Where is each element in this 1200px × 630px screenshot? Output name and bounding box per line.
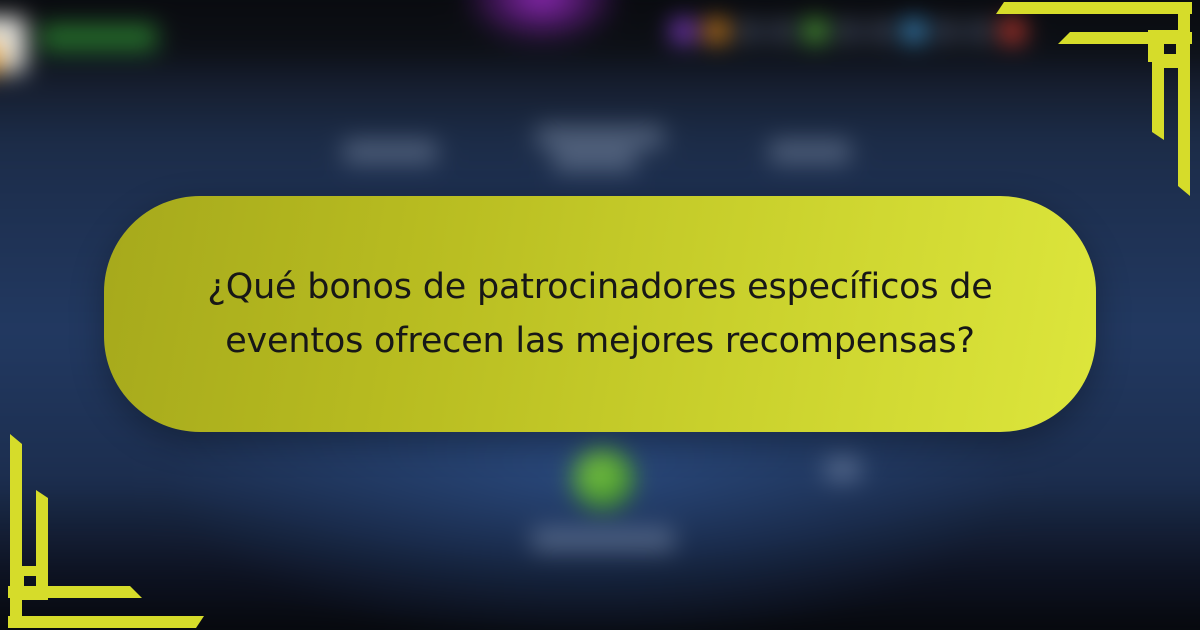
icon-grey-6 bbox=[968, 19, 991, 42]
background-badge-right bbox=[825, 456, 861, 481]
background-label-right bbox=[770, 140, 851, 163]
toolbar-panel bbox=[0, 17, 25, 72]
question-card: ¿Qué bonos de patrocinadores específicos… bbox=[104, 196, 1096, 432]
icon-grey-2 bbox=[771, 19, 794, 42]
toolbar-icon-row bbox=[672, 19, 1024, 42]
icon-grey-3 bbox=[836, 19, 859, 42]
icon-grey-4 bbox=[869, 19, 892, 42]
icon-green bbox=[804, 19, 827, 42]
background-label-center-bottom bbox=[553, 149, 636, 172]
icon-grey-1 bbox=[738, 19, 761, 42]
card-stage: ¿Qué bonos de patrocinadores específicos… bbox=[0, 0, 1200, 630]
icon-purple bbox=[672, 19, 695, 42]
icon-red bbox=[1001, 19, 1024, 42]
question-text: ¿Qué bonos de patrocinadores específicos… bbox=[207, 260, 992, 369]
green-circle-icon bbox=[572, 447, 633, 508]
background-label-left bbox=[343, 140, 436, 163]
background-label-bottom bbox=[532, 528, 674, 551]
icon-orange bbox=[705, 19, 728, 42]
icon-grey-5 bbox=[935, 19, 958, 42]
background-label-center-top bbox=[536, 125, 663, 148]
icon-blue bbox=[902, 19, 925, 42]
purple-glow bbox=[462, 0, 621, 46]
toolbar-green-button bbox=[40, 25, 157, 53]
